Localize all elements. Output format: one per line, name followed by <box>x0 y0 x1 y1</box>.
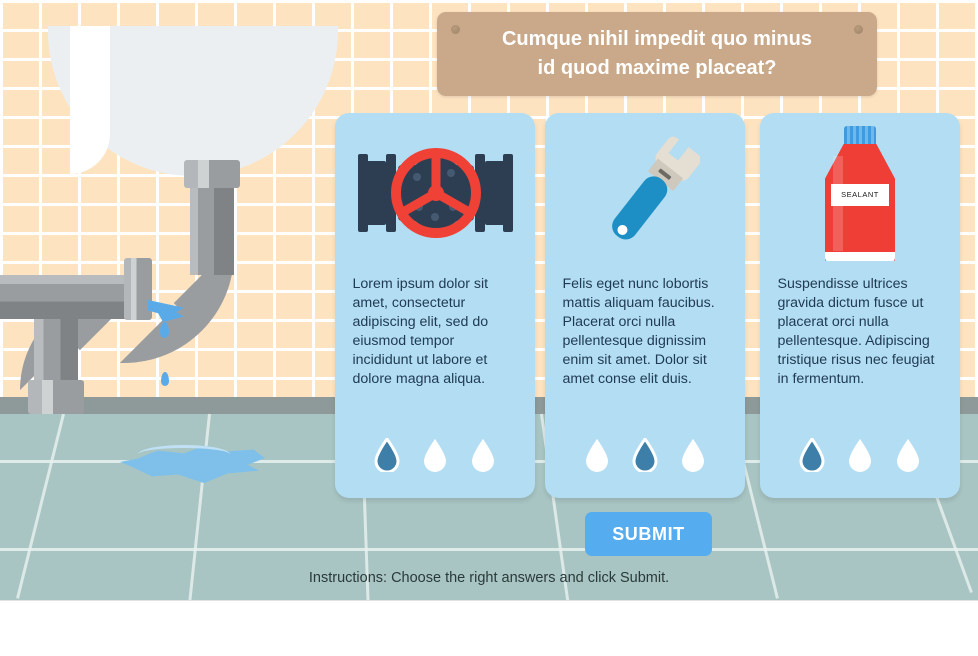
sink-basin-highlight <box>70 26 110 174</box>
screw-icon <box>451 25 460 34</box>
pipe-valve-icon <box>358 143 513 243</box>
water-drop-empty[interactable] <box>422 438 448 472</box>
rating-drops[interactable] <box>335 438 535 472</box>
pipe-coupling <box>124 258 152 320</box>
question-line-1: Cumque nihil impedit quo minus <box>455 25 860 54</box>
water-drop-filled[interactable] <box>632 438 658 472</box>
slide-stage: Cumque nihil impedit quo minus id quod m… <box>0 0 978 656</box>
water-drop-empty[interactable] <box>847 438 873 472</box>
question-line-2: id quod maxime placeat? <box>455 54 860 83</box>
water-drop-empty[interactable] <box>470 438 496 472</box>
instructions-text: Instructions: Choose the right answers a… <box>0 570 978 586</box>
pipe-coupling <box>184 160 240 188</box>
water-drop-empty[interactable] <box>895 438 921 472</box>
tube-base <box>825 252 895 261</box>
submit-button[interactable]: SUBMIT <box>585 512 712 556</box>
answer-card-valve[interactable]: Lorem ipsum dolor sit amet, consectetur … <box>335 113 535 498</box>
water-drop-empty[interactable] <box>584 438 610 472</box>
water-drop-filled[interactable] <box>799 438 825 472</box>
card-icon-area <box>335 113 535 273</box>
answer-card-wrench[interactable]: Felis eget nunc lobortis mattis aliquam … <box>545 113 745 498</box>
card-icon-area <box>545 113 745 273</box>
wrench-icon <box>590 128 700 258</box>
question-text: Cumque nihil impedit quo minus id quod m… <box>455 25 860 83</box>
screw-icon <box>854 25 863 34</box>
answer-card-sealant[interactable]: SEALANT Suspendisse ultrices gravida dic… <box>760 113 960 498</box>
answer-card-text: Suspendisse ultrices gravida dictum fusc… <box>778 275 943 389</box>
water-puddle-highlight <box>138 445 230 464</box>
card-icon-area: SEALANT <box>760 113 960 273</box>
rating-drops[interactable] <box>760 438 960 472</box>
answer-card-text: Felis eget nunc lobortis mattis aliquam … <box>563 275 728 389</box>
tube-label: SEALANT <box>831 184 889 206</box>
water-drop-empty[interactable] <box>680 438 706 472</box>
answer-card-text: Lorem ipsum dolor sit amet, consectetur … <box>353 275 518 389</box>
tube-cap <box>844 126 876 146</box>
pipe-coupling <box>28 380 84 414</box>
question-banner: Cumque nihil impedit quo minus id quod m… <box>437 12 877 96</box>
water-drip <box>160 322 169 338</box>
bottom-navigation-bar: 10/13 <box>0 600 978 656</box>
water-drip <box>161 372 169 386</box>
sealant-tube-icon: SEALANT <box>825 126 895 261</box>
water-drop-filled[interactable] <box>374 438 400 472</box>
rating-drops[interactable] <box>545 438 745 472</box>
floor-grout-line <box>0 548 978 551</box>
